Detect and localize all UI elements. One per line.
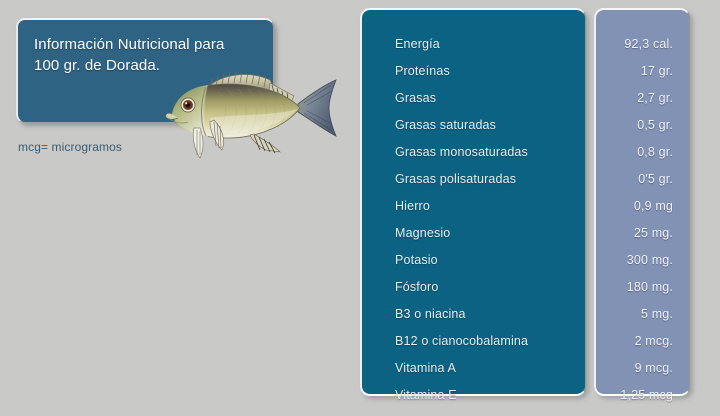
nutrient-value-row: 2 mcg.: [596, 328, 689, 355]
nutrient-value-row: 25 mg.: [596, 220, 689, 247]
nutrient-value-row: 180 mg.: [596, 274, 689, 301]
nutrient-label-row: Potasio: [362, 247, 585, 274]
nutrient-value-row: 300 mg.: [596, 247, 689, 274]
nutrition-labels-panel: EnergíaProteínasGrasasGrasas saturadasGr…: [360, 8, 586, 396]
nutrient-value-row: 0'5 gr.: [596, 166, 689, 193]
nutrient-label-row: Grasas polisaturadas: [362, 166, 585, 193]
nutrient-value-row: 17 gr.: [596, 58, 689, 85]
nutrient-value-row: 0,9 mg: [596, 193, 689, 220]
legend-note: mcg= microgramos: [18, 140, 122, 154]
nutrient-label-row: Hierro: [362, 193, 585, 220]
slide-canvas: Información Nutricional para 100 gr. de …: [0, 0, 720, 416]
nutrient-value-row: 92,3 cal.: [596, 31, 689, 58]
nutrient-label-row: Vitamina E: [362, 382, 585, 409]
nutrient-value-row: 9 mcg.: [596, 355, 689, 382]
dorada-fish-icon: [148, 58, 340, 168]
nutrient-label-row: Fósforo: [362, 274, 585, 301]
nutrient-label-row: Grasas monosaturadas: [362, 139, 585, 166]
nutrient-label-row: Proteínas: [362, 58, 585, 85]
nutrition-values-panel: 92,3 cal.17 gr.2,7 gr.0,5 gr.0,8 gr.0'5 …: [594, 8, 690, 396]
nutrient-label-row: Vitamina A: [362, 355, 585, 382]
nutrient-value-row: 0,5 gr.: [596, 112, 689, 139]
nutrient-label-row: Grasas: [362, 85, 585, 112]
nutrient-label-row: Magnesio: [362, 220, 585, 247]
nutrient-label-row: B12 o cianocobalamina: [362, 328, 585, 355]
nutrient-label-row: Energía: [362, 31, 585, 58]
nutrient-value-row: 5 mg.: [596, 301, 689, 328]
nutrient-value-row: 1,25 mcg: [596, 382, 689, 409]
nutrient-label-row: Grasas saturadas: [362, 112, 585, 139]
nutrient-value-row: 2,7 gr.: [596, 85, 689, 112]
nutrition-values-list: 92,3 cal.17 gr.2,7 gr.0,5 gr.0,8 gr.0'5 …: [596, 31, 689, 409]
nutrient-value-row: 0,8 gr.: [596, 139, 689, 166]
nutrient-label-row: B3 o niacina: [362, 301, 585, 328]
nutrition-labels-list: EnergíaProteínasGrasasGrasas saturadasGr…: [362, 31, 585, 409]
